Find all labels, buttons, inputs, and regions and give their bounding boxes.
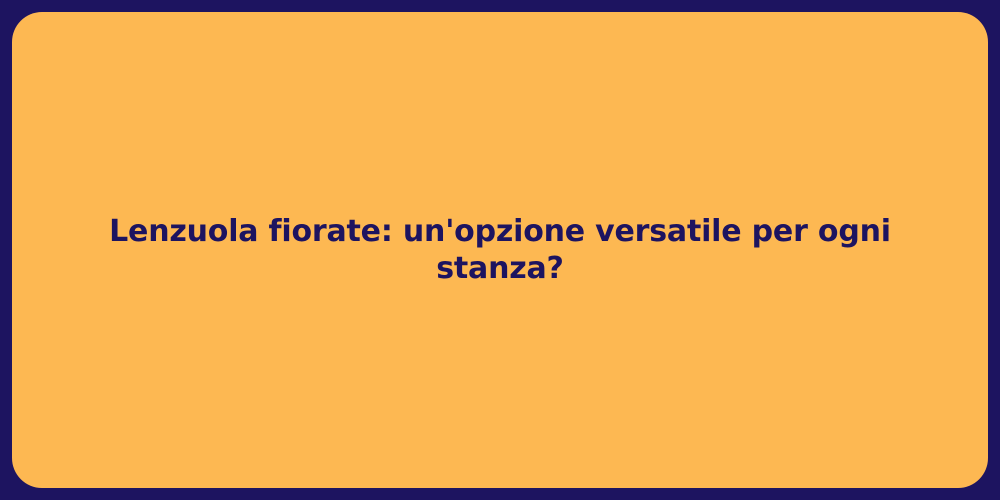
banner-root: Lenzuola fiorate: un'opzione versatile p… [0, 0, 1000, 500]
banner-panel: Lenzuola fiorate: un'opzione versatile p… [12, 12, 988, 488]
banner-title: Lenzuola fiorate: un'opzione versatile p… [90, 213, 910, 288]
